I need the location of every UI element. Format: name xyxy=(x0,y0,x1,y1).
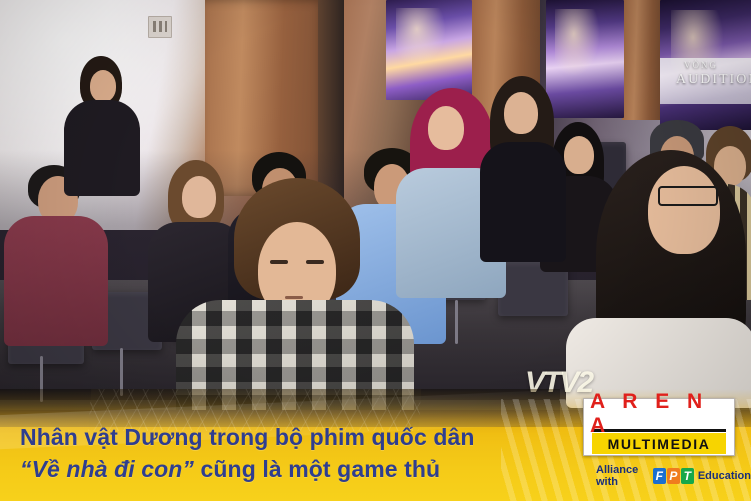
fpt-logo-icon: F P T xyxy=(653,468,694,484)
caption-line-2-rest: cũng là một game thủ xyxy=(194,456,440,482)
caption-film-title: “Về nhà đi con” xyxy=(20,456,194,482)
caption-line-2: “Về nhà đi con” cũng là một game thủ xyxy=(20,456,440,483)
arena-wordmark: A R E N A xyxy=(584,399,734,429)
alliance-suffix: Education xyxy=(698,470,751,482)
alliance-prefix: Alliance with xyxy=(596,464,649,488)
arena-multimedia-logo: A R E N A MULTIMEDIA xyxy=(583,398,735,456)
fpt-letter-f: F xyxy=(653,468,666,484)
broadcast-screenshot: VÒNG AUDITION xyxy=(0,0,751,501)
fpt-letter-t: T xyxy=(681,468,694,484)
multimedia-wordmark: MULTIMEDIA xyxy=(592,433,726,454)
caption-line-1: Nhân vật Dương trong bộ phim quốc dân xyxy=(20,424,475,451)
fpt-letter-p: P xyxy=(667,468,680,484)
fpt-alliance-line: Alliance with F P T Education xyxy=(596,466,751,486)
